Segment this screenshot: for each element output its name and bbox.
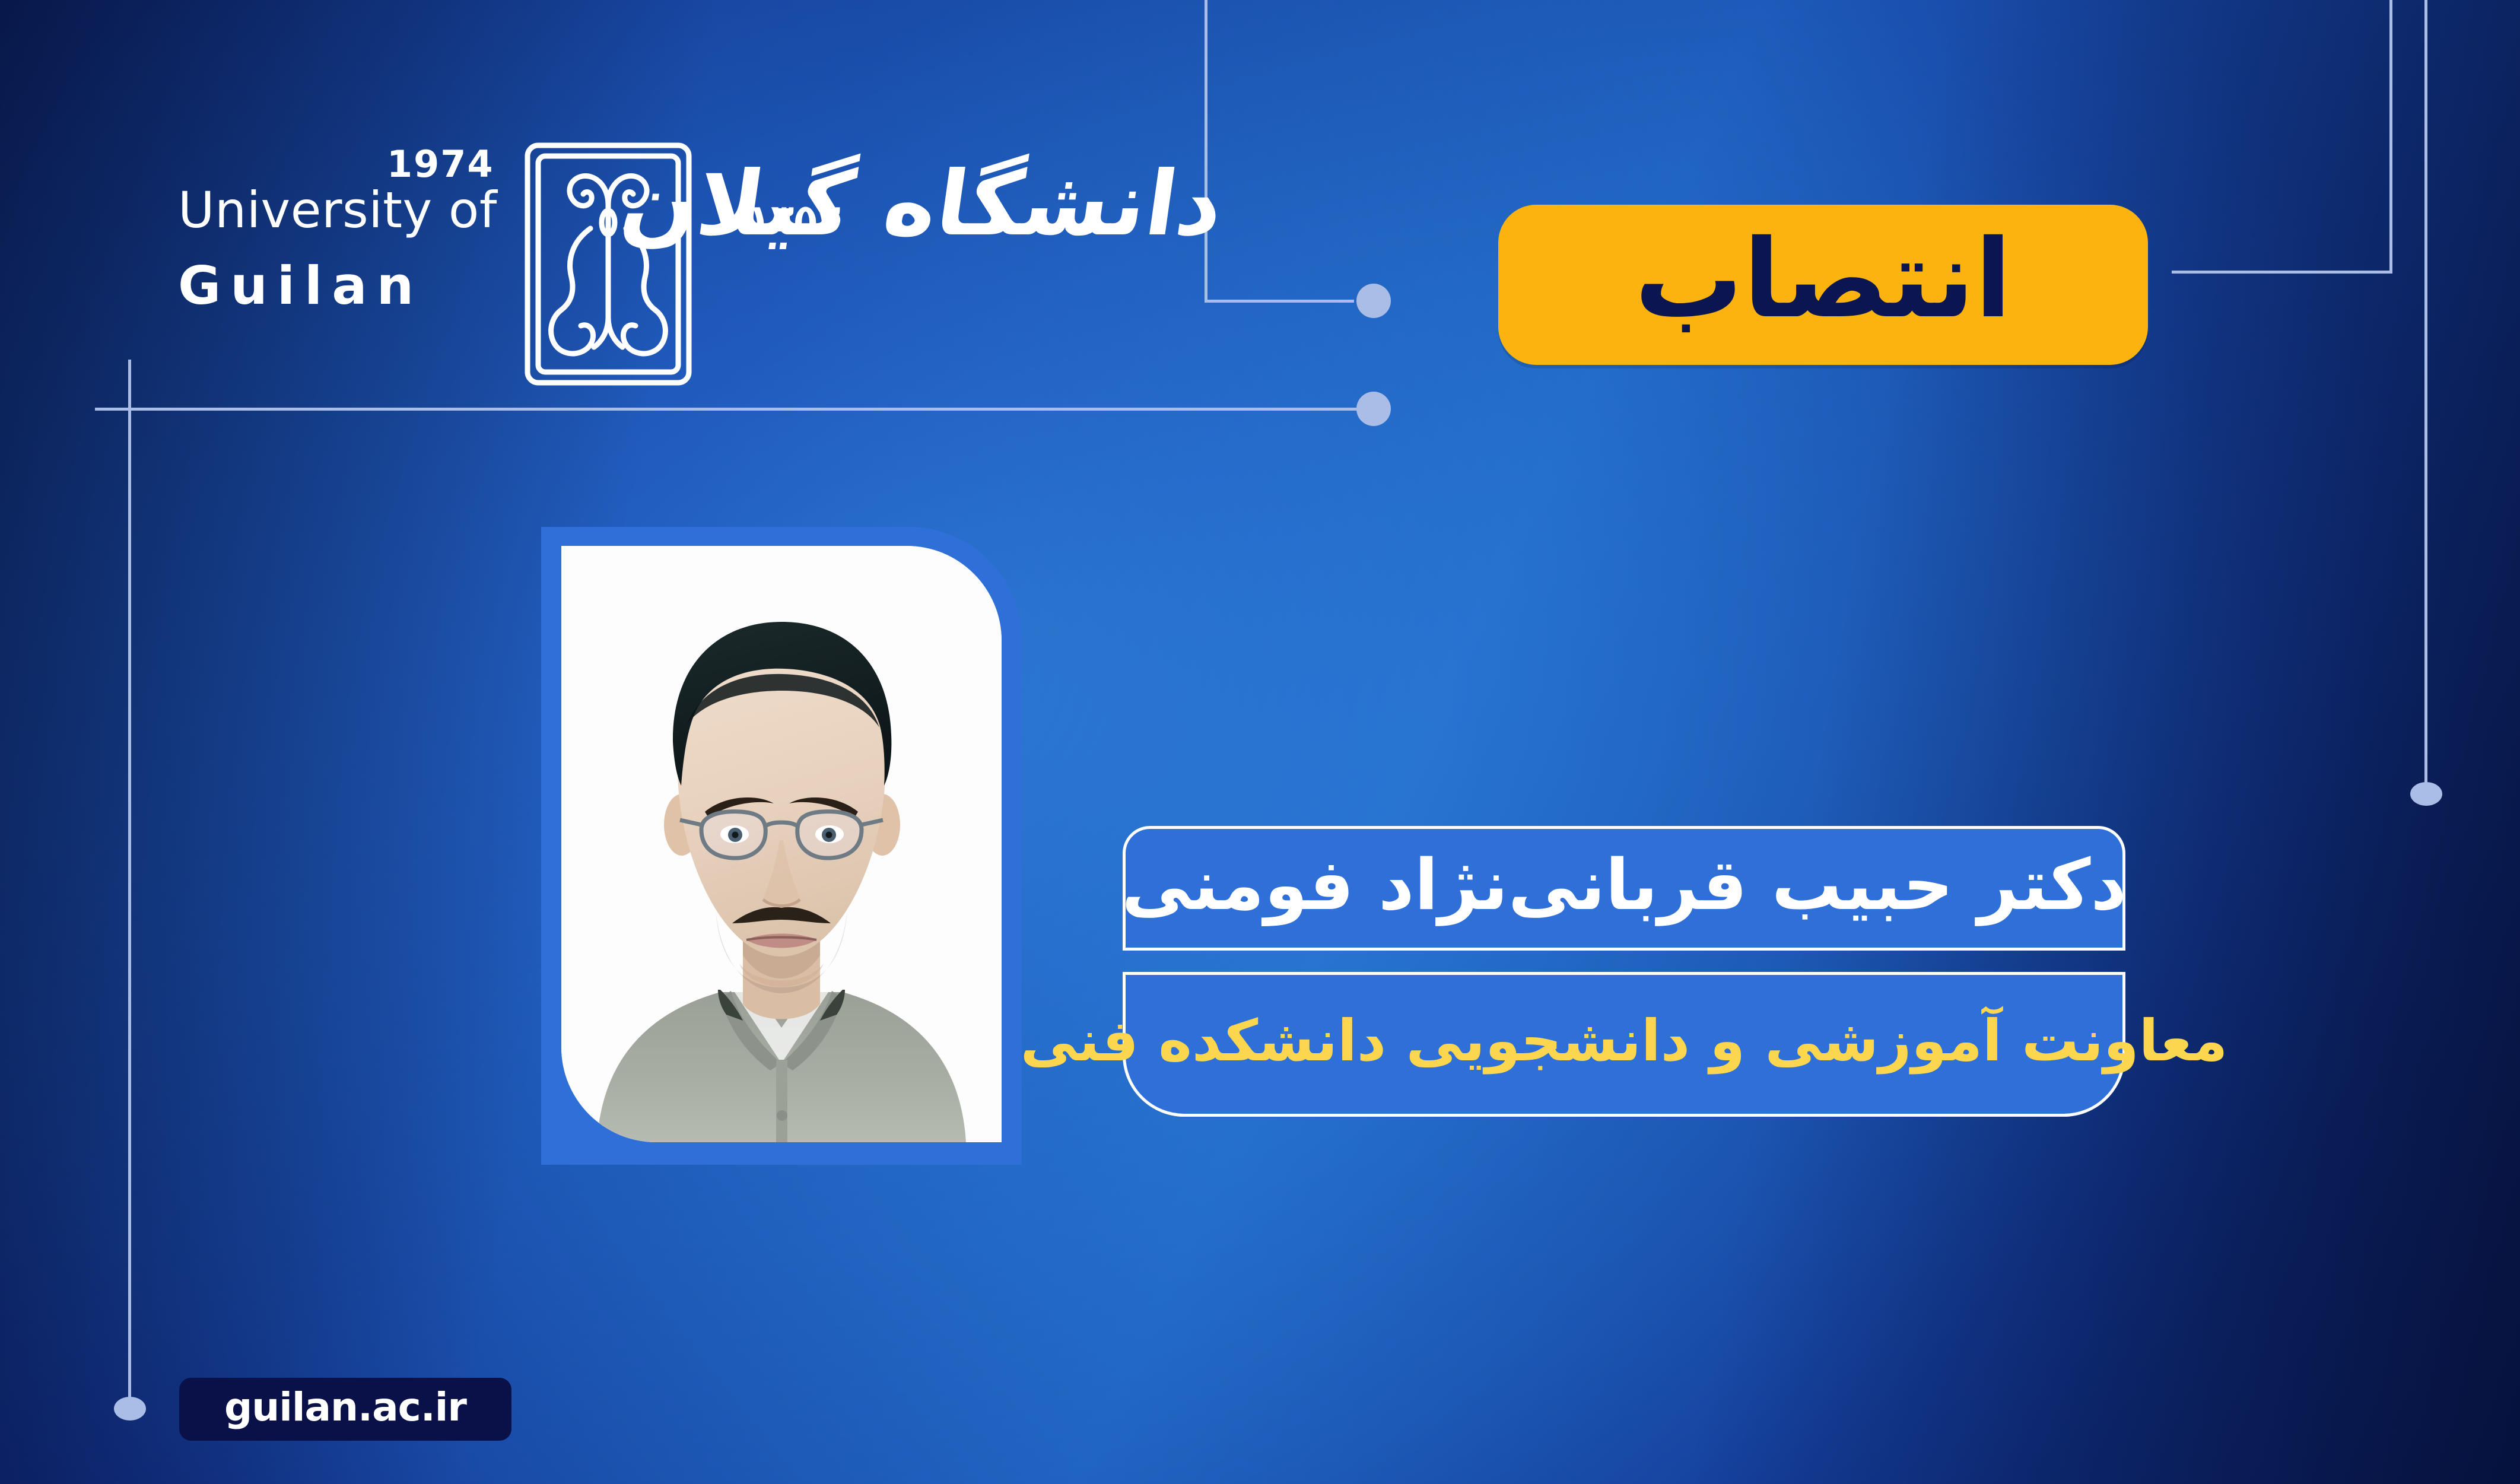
portrait-frame <box>541 527 1022 1165</box>
logo-persian-wordmark: دانشگاه گیلان <box>612 138 1232 271</box>
portrait-photo <box>561 546 1002 1142</box>
horizontal-line-mid <box>95 408 1358 411</box>
website-url: guilan.ac.ir <box>224 1388 466 1427</box>
logo-english-wordmark: University of Guilan <box>178 185 510 312</box>
headline-badge: انتصاب <box>1498 205 2148 365</box>
dot-marker-left <box>114 1397 146 1421</box>
horizontal-line-right-corner <box>2172 271 2392 274</box>
logo-year-gregorian: 1974 <box>387 142 494 186</box>
dot-marker-upper <box>1356 284 1391 318</box>
vertical-line-left <box>128 360 131 1409</box>
horizontal-line-upper <box>1205 300 1354 303</box>
dot-marker-far-right <box>2410 782 2442 806</box>
person-role-badge: معاونت آموزشی و دانشجویی دانشکده فنی <box>1123 972 2125 1117</box>
logo-english-line2: Guilan <box>178 260 510 312</box>
website-badge[interactable]: guilan.ac.ir <box>179 1378 511 1441</box>
vertical-line-right-corner <box>2389 0 2392 273</box>
dot-marker-mid <box>1356 392 1391 426</box>
poster-canvas: 1974 University of Guilan ۱۳۵۳ دانشگاه گ… <box>0 0 2520 1484</box>
logo-english-line1: University of <box>178 185 510 235</box>
person-role: معاونت آموزشی و دانشجویی دانشکده فنی <box>1021 1012 2228 1069</box>
university-logo: 1974 University of Guilan ۱۳۵۳ دانشگاه گ… <box>178 142 1222 392</box>
portrait-illustration <box>561 546 1002 1142</box>
person-name-badge: دکتر حبیب قربانی‌نژاد فومنی <box>1123 826 2125 951</box>
person-name: دکتر حبیب قربانی‌نژاد فومنی <box>1121 850 2127 920</box>
headline-label: انتصاب <box>1635 225 2012 333</box>
vertical-line-far-right <box>2424 0 2427 790</box>
